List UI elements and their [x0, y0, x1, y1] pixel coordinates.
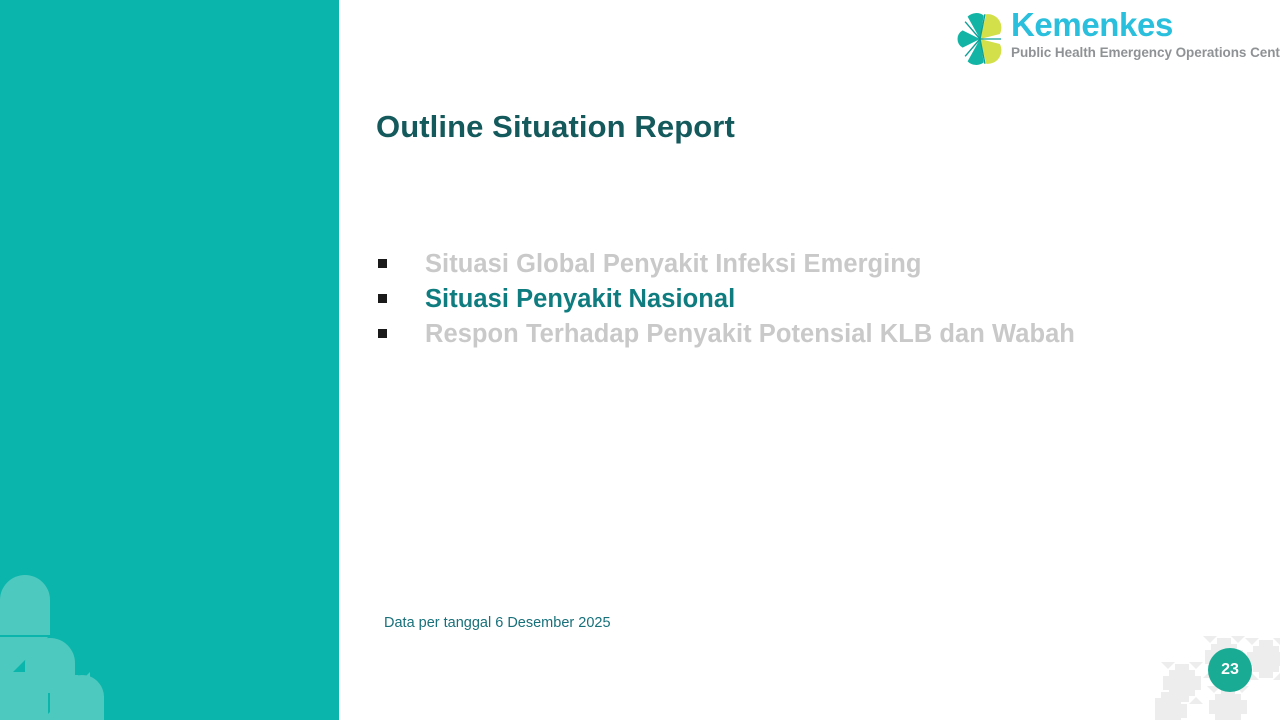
- page-number-badge: 23: [1208, 648, 1252, 692]
- kemenkes-flower-icon: [948, 8, 1012, 70]
- outline-item-global-situation[interactable]: Situasi Global Penyakit Infeksi Emerging: [378, 250, 1238, 285]
- logo-text-group: Kemenkes Public Health Emergency Operati…: [1011, 7, 1277, 62]
- kemenkes-logo: Kemenkes Public Health Emergency Operati…: [948, 4, 1278, 76]
- logo-subtitle: Public Health Emergency Operations Cente…: [1011, 44, 1277, 62]
- logo-wordmark: Kemenkes: [1011, 7, 1277, 43]
- outline-item-label: Situasi Global Penyakit Infeksi Emerging: [425, 250, 922, 279]
- outline-item-national-situation[interactable]: Situasi Penyakit Nasional: [378, 285, 1238, 320]
- square-bullet-icon: [378, 329, 387, 338]
- left-sidebar-panel: [0, 0, 339, 720]
- outline-item-outbreak-response[interactable]: Respon Terhadap Penyakit Potensial KLB d…: [378, 320, 1238, 355]
- square-bullet-icon: [378, 259, 387, 268]
- page-title: Outline Situation Report: [376, 109, 735, 145]
- square-bullet-icon: [378, 294, 387, 303]
- outline-item-label: Respon Terhadap Penyakit Potensial KLB d…: [425, 320, 1075, 349]
- data-date-note: Data per tanggal 6 Desember 2025: [384, 615, 611, 631]
- sidebar-decoration-icon: [0, 575, 140, 720]
- outline-item-label: Situasi Penyakit Nasional: [425, 285, 735, 314]
- outline-list: Situasi Global Penyakit Infeksi Emerging…: [378, 250, 1238, 355]
